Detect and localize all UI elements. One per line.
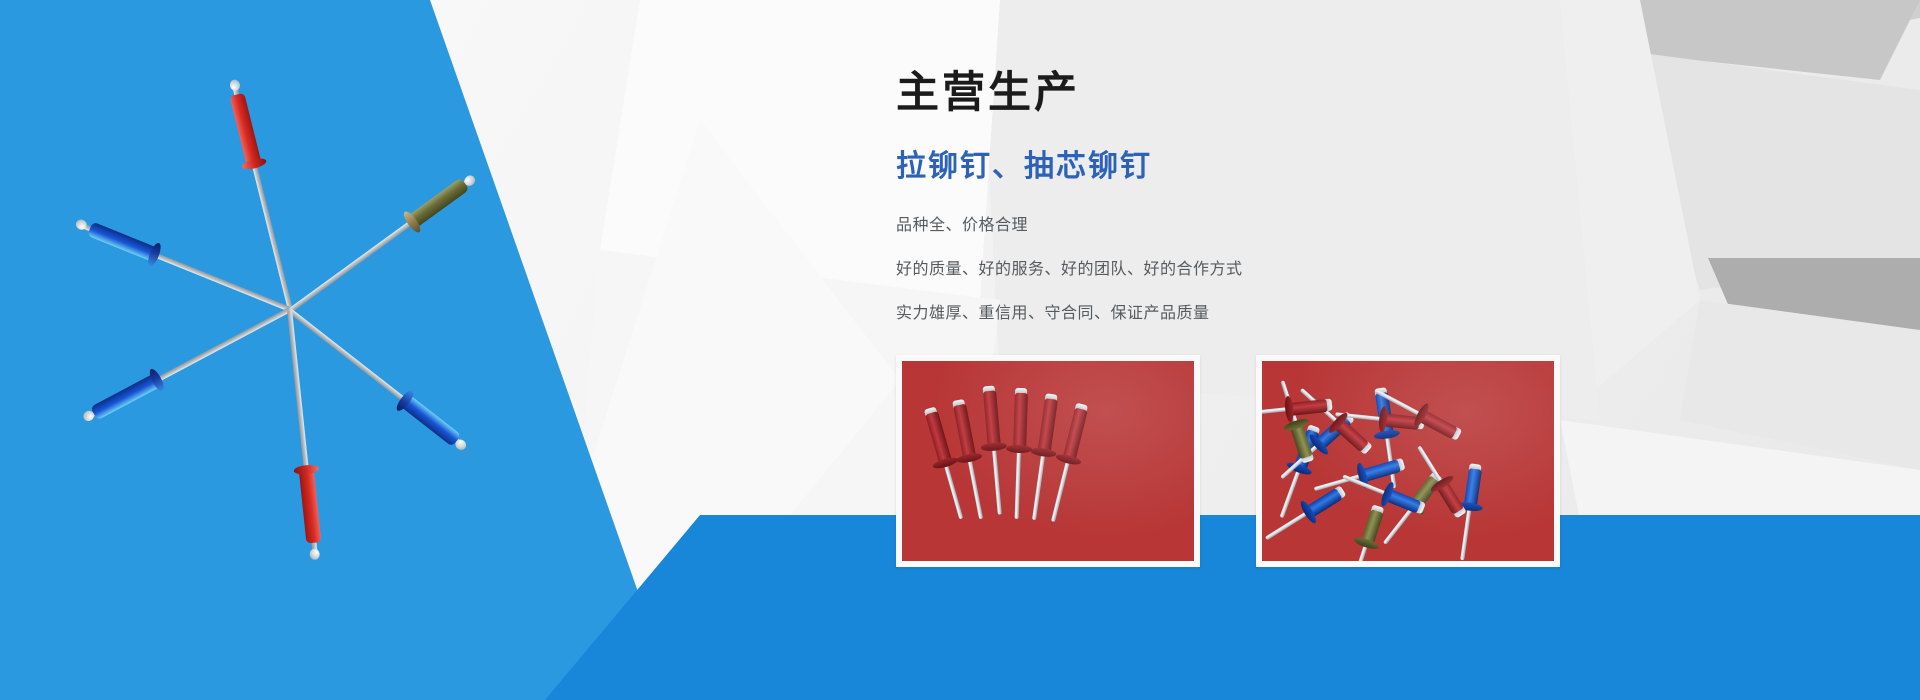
photo-rivet-cap <box>1015 388 1027 397</box>
photo-rivet-shaft <box>1383 478 1437 545</box>
photo-rivet-red <box>952 404 988 521</box>
photo-rivet-collar <box>932 456 959 471</box>
photo-rivet-blue <box>1262 487 1342 544</box>
photo-rivet-red <box>1046 407 1088 523</box>
photo-rivet-shaft <box>1051 409 1083 523</box>
photo-rivet-collar <box>1412 402 1431 429</box>
photo-rivet-collar <box>1355 462 1370 489</box>
photo-rivet-shaft <box>987 391 1002 515</box>
photo-rivet-cap <box>924 407 938 419</box>
photo-rivet-cap <box>1300 451 1314 463</box>
feature-item: 品种全、价格合理 <box>896 218 1243 234</box>
photo-rivet-sleeve <box>1360 509 1383 545</box>
photo-rivet-collar <box>1429 474 1455 495</box>
photo-rivet-cap <box>1370 504 1384 516</box>
photo-rivet-sleeve <box>1293 429 1319 471</box>
feature-item: 好的质量、好的服务、好的团队、好的合作方式 <box>896 262 1243 278</box>
photo-rivet-sleeve <box>1409 475 1440 510</box>
hero-rivet-blue <box>74 217 292 316</box>
photo-rivet-sleeve <box>1437 480 1465 514</box>
photo-rivet-collar <box>1284 396 1295 423</box>
photo-rivet-collar <box>1378 406 1389 433</box>
photo-rivet-collar <box>1379 481 1396 508</box>
photo-rivet-blue <box>1277 414 1352 483</box>
product-photo-red-rivets[interactable] <box>896 355 1200 567</box>
photo-rivet-cap <box>1306 424 1320 437</box>
photo-rivet-cap <box>1469 463 1482 474</box>
feature-item: 实力雄厚、重信用、守合同、保证产品质量 <box>896 306 1243 322</box>
photo-rivet-cap <box>1340 411 1355 426</box>
photo-rivet-sleeve <box>1334 418 1369 452</box>
photo-rivet-sleeve <box>1037 398 1057 453</box>
hero-rivet-star-image <box>60 60 520 560</box>
promo-banner: 主营生产 拉铆钉、抽芯铆钉 品种全、价格合理好的质量、好的服务、好的团队、好的合… <box>0 0 1920 700</box>
photo-rivet-sleeve <box>953 404 976 459</box>
photo-rivet-collar <box>1286 460 1313 476</box>
page-subtitle: 拉铆钉、抽芯铆钉 <box>896 152 1152 182</box>
photo-rivet-cap <box>1074 403 1088 415</box>
photo-rivet-sleeve <box>1314 414 1351 449</box>
photo-rivet-shaft <box>1262 403 1327 416</box>
photo-rivet-shaft <box>1280 380 1309 457</box>
photo-rivet-olive <box>1346 509 1383 561</box>
photo-rivet-sleeve <box>983 390 1001 447</box>
photo-rivet-shaft <box>1280 418 1348 480</box>
photo-rivet-cap <box>983 385 996 395</box>
rivet-flange <box>293 464 319 476</box>
hero-rivet-red <box>226 79 297 311</box>
photo-rivet-red <box>1335 407 1420 430</box>
rivet-sleeve <box>299 468 322 543</box>
photo-rivet-blue <box>1455 468 1482 561</box>
photo-rivet-shaft <box>957 405 983 520</box>
page-title: 主营生产 <box>896 72 1080 115</box>
photo-rivet-shaft <box>1015 393 1023 519</box>
photo-rivet-sleeve <box>1383 413 1420 430</box>
photo-rivet-sleeve <box>1289 399 1328 416</box>
photo-rivet-olive <box>1276 379 1314 459</box>
photo-rivet-shaft <box>1265 491 1340 540</box>
photo-rivet-collar <box>1373 429 1400 441</box>
rivet-sleeve <box>90 373 161 420</box>
photo-rivet-cap <box>1322 399 1332 412</box>
photo-rivet-cap <box>1394 458 1406 472</box>
photo-rivet-shaft <box>1351 510 1379 561</box>
photo-rivet-shaft <box>929 412 963 519</box>
content-column: 主营生产 拉铆钉、抽芯铆钉 品种全、价格合理好的质量、好的服务、好的团队、好的合… <box>896 0 1656 700</box>
rivet-sleeve <box>230 93 262 166</box>
photo-rivet-collar <box>1401 495 1426 517</box>
photo-rivet-sleeve <box>1418 409 1458 438</box>
photo-rivet-blue <box>1374 392 1401 489</box>
photo-rivet-red <box>1262 398 1328 421</box>
photo-rivet-cap <box>1452 504 1467 518</box>
photo-rivet-shaft <box>1314 463 1400 491</box>
photo-rivet-collar <box>1055 452 1082 466</box>
hero-rivet-red <box>283 309 323 559</box>
photo-rivet-cap <box>1428 471 1443 485</box>
photo-rivet-shaft <box>1280 430 1315 518</box>
photo-rivet-cap <box>1413 500 1426 514</box>
photo-rivet-cap <box>1449 426 1463 441</box>
photo-canvas <box>1262 361 1554 561</box>
photo-rivet-cap <box>1374 387 1387 398</box>
photo-rivet-cap <box>1414 417 1424 430</box>
photo-rivet-red <box>1010 393 1028 519</box>
rivet-sleeve <box>87 222 158 262</box>
photo-rivet-cap <box>952 399 965 410</box>
photo-rivet-cap <box>1332 485 1346 500</box>
photo-rivet-blue <box>1340 470 1421 514</box>
photo-rivet-sleeve <box>1361 459 1401 482</box>
photo-rivet-shaft <box>1417 445 1461 512</box>
rivet-mandrel-tip <box>310 548 321 560</box>
product-photo-mixed-rivets[interactable] <box>1256 355 1560 567</box>
photo-rivet-sleeve <box>1013 393 1028 449</box>
rivet-mandrel-tip <box>228 79 240 92</box>
product-photo-gallery <box>896 355 1560 567</box>
photo-canvas <box>902 361 1194 561</box>
photo-rivet-shaft <box>1342 474 1420 508</box>
photo-rivet-cap <box>1045 393 1058 404</box>
photo-rivet-sleeve <box>1375 392 1394 435</box>
photo-rivet-shaft <box>1460 469 1477 561</box>
photo-rivet-collar <box>1030 447 1057 459</box>
photo-rivet-shaft <box>1379 393 1396 489</box>
photo-rivet-collar <box>1298 499 1319 525</box>
photo-rivet-blue <box>1275 429 1320 520</box>
photo-rivet-shaft <box>1375 389 1456 435</box>
photo-rivet-sleeve <box>1385 488 1421 513</box>
photo-rivet-collar <box>1307 432 1330 457</box>
photo-rivet-collar <box>1283 417 1310 433</box>
photo-rivet-shaft <box>1032 399 1053 520</box>
photo-rivet-collar <box>1353 536 1380 552</box>
hero-rivet-blue <box>82 304 293 425</box>
photo-rivet-sleeve <box>1305 487 1342 517</box>
hero-rivet-olive <box>286 171 477 315</box>
hero-rivet-blue <box>286 304 470 452</box>
photo-rivet-sleeve <box>1290 423 1313 459</box>
photo-rivet-red <box>1413 443 1465 515</box>
feature-list: 品种全、价格合理好的质量、好的服务、好的团队、好的合作方式实力雄厚、重信用、守合… <box>896 218 1243 350</box>
photo-rivet-red <box>1372 385 1458 440</box>
photo-rivet-red <box>924 411 968 521</box>
photo-rivet-red <box>1296 384 1369 452</box>
photo-rivet-sleeve <box>1062 407 1087 461</box>
photo-rivet-shaft <box>1335 412 1419 425</box>
photo-rivet-cap <box>1358 440 1373 455</box>
photo-rivet-shaft <box>1300 388 1367 449</box>
photo-rivet-collar <box>956 452 983 465</box>
photo-rivet-sleeve <box>1463 468 1481 507</box>
photo-rivet-red <box>1027 398 1058 521</box>
photo-rivet-collar <box>981 442 1008 452</box>
photo-rivet-blue <box>1312 458 1400 496</box>
photo-rivet-collar <box>1456 501 1483 513</box>
photo-rivet-collar <box>1327 411 1350 436</box>
photo-rivet-olive <box>1379 475 1441 548</box>
photo-rivet-sleeve <box>925 411 952 465</box>
photo-rivet-red <box>982 390 1007 515</box>
photo-rivet-collar <box>1006 445 1032 454</box>
